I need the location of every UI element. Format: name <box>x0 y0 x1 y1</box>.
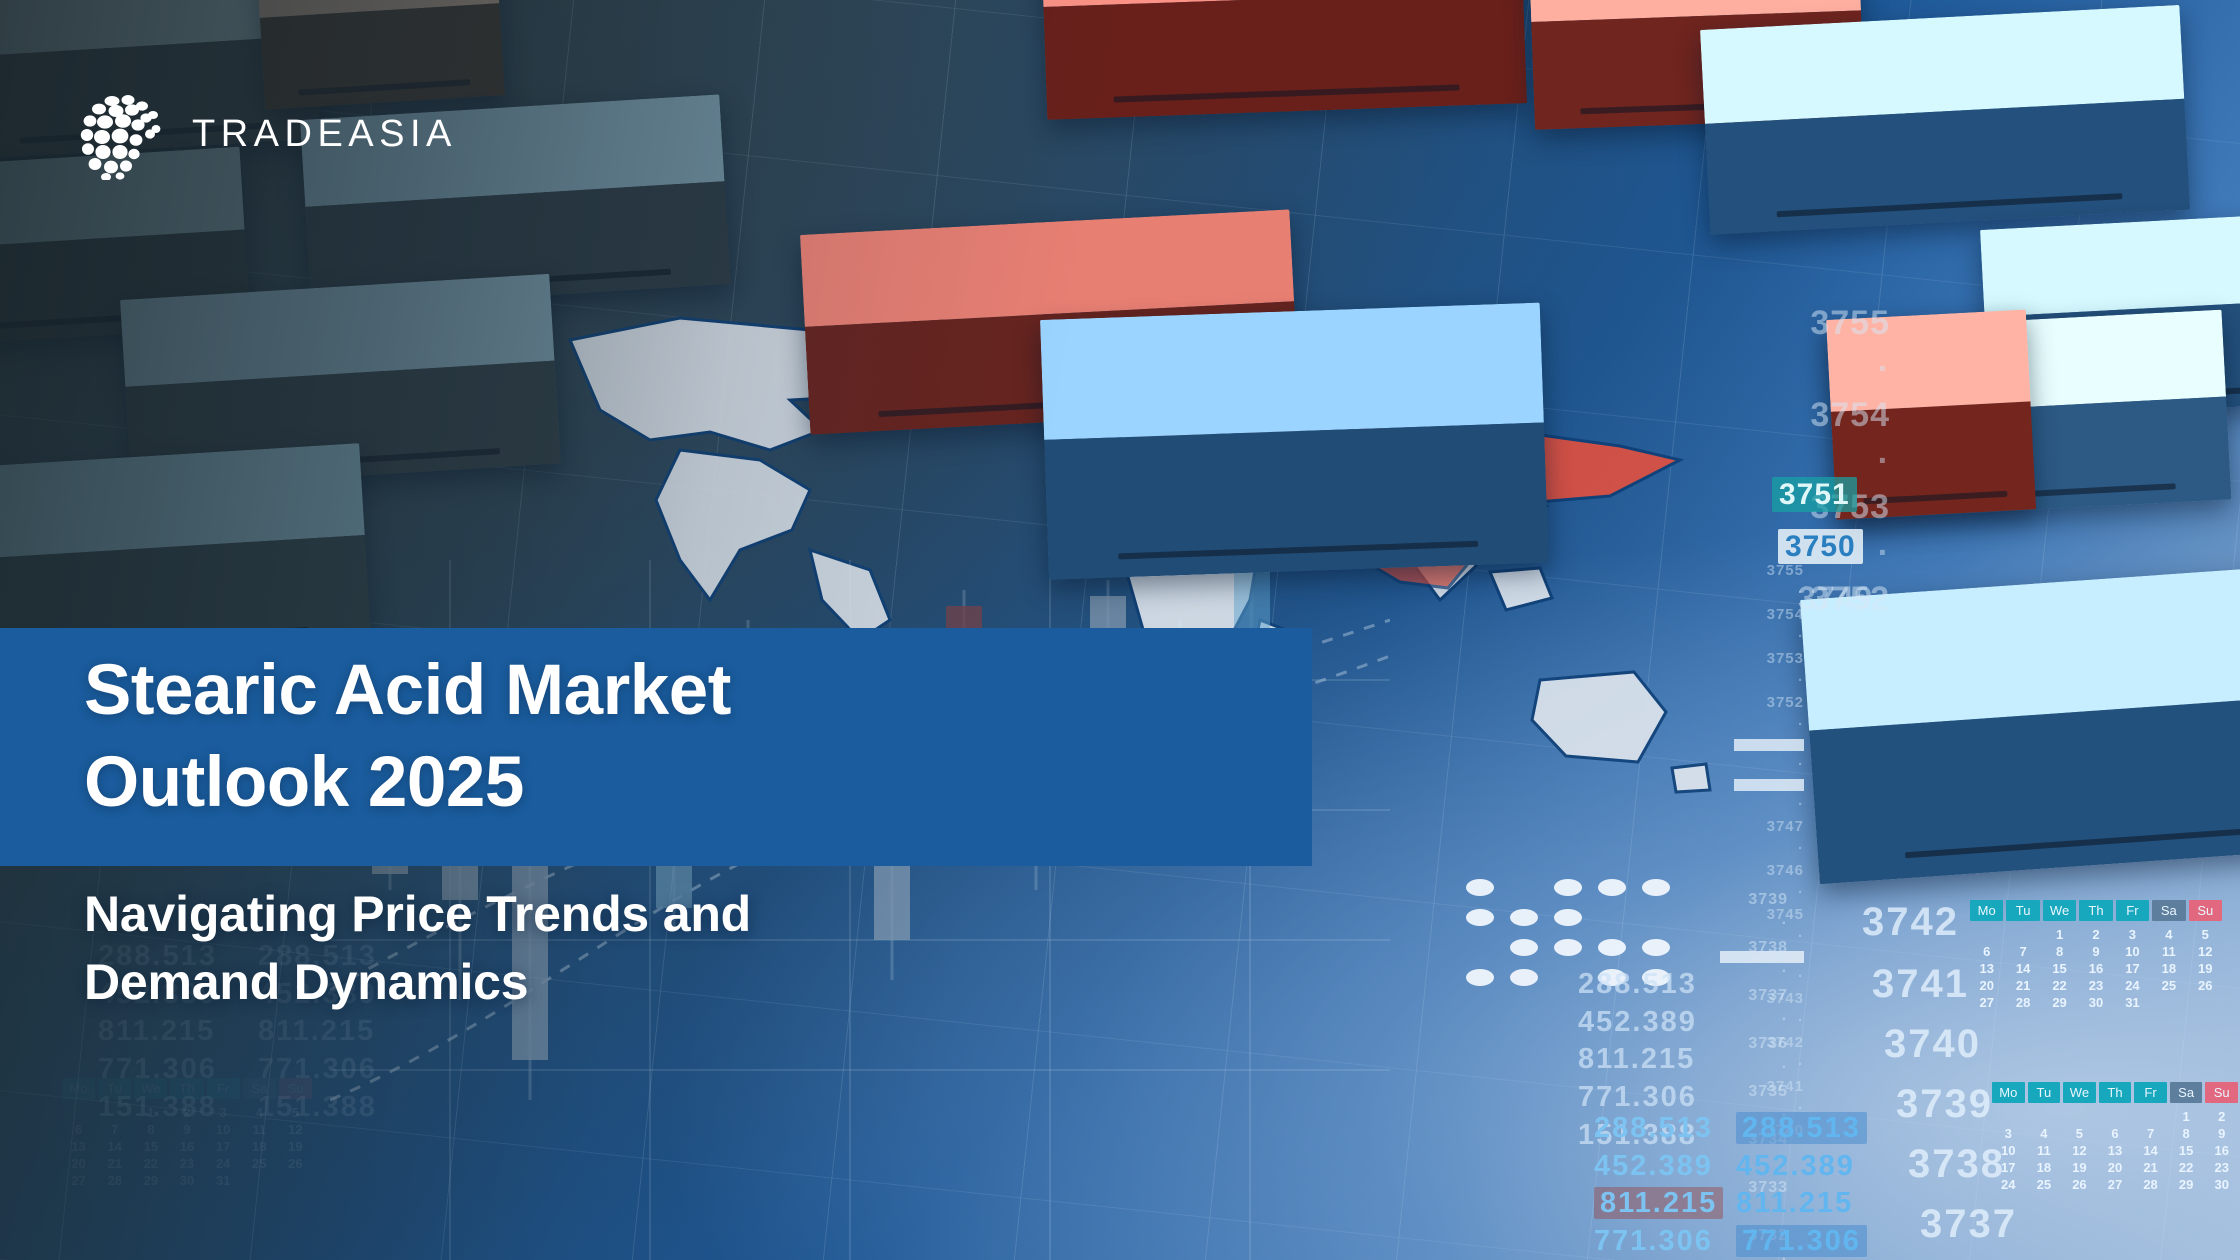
calendar-day: 12 <box>279 1121 312 1138</box>
calendar-day[interactable]: 22 <box>2170 1159 2203 1176</box>
calendar-day <box>98 1104 131 1121</box>
calendar-weekday: Sa <box>243 1078 276 1099</box>
price-value-large: 3742 <box>1862 900 1959 945</box>
calendar-day: 14 <box>98 1138 131 1155</box>
calendar-day[interactable]: 26 <box>2189 977 2222 994</box>
calendar-day[interactable] <box>2152 994 2185 1011</box>
calendar-weekday: Tu <box>2006 900 2039 921</box>
calendar-day[interactable]: 30 <box>2079 994 2112 1011</box>
price-value-large: 3739 <box>1896 1082 1993 1127</box>
data-value-highlight: 288.513 <box>1736 1112 1867 1144</box>
calendar-day: 9 <box>170 1121 203 1138</box>
calendar-day: 13 <box>62 1138 95 1155</box>
calendar-week-row: 17181920212223 <box>1992 1159 2238 1176</box>
calendar-week-row: 6789101112 <box>62 1121 312 1138</box>
shipping-container <box>1040 303 1549 580</box>
calendar-day[interactable]: 30 <box>2205 1176 2238 1193</box>
calendar-day[interactable]: 8 <box>2170 1125 2203 1142</box>
calendar-weekday: Tu <box>2028 1082 2061 1103</box>
calendar-day[interactable] <box>2189 994 2222 1011</box>
subtitle-line-1: Navigating Price Trends and <box>84 880 1284 948</box>
calendar-week-row: 13141516171819 <box>62 1138 312 1155</box>
calendar-weekday: Fr <box>2134 1082 2167 1103</box>
calendar-day: 2 <box>170 1104 203 1121</box>
calendar-weekday: We <box>2063 1082 2096 1103</box>
calendar-day: 26 <box>279 1155 312 1172</box>
calendar-day: 1 <box>134 1104 167 1121</box>
calendar-day <box>279 1172 312 1189</box>
calendar-day: 30 <box>170 1172 203 1189</box>
calendar-day: 23 <box>170 1155 203 1172</box>
calendar-day[interactable] <box>1992 1108 2025 1125</box>
calendar-day[interactable]: 24 <box>1992 1176 2025 1193</box>
calendar-day[interactable]: 29 <box>2170 1176 2203 1193</box>
calendar-widget-1[interactable]: Mo Tu We Th Fr Sa Su 12345 6789101112 13… <box>1970 900 2222 1011</box>
calendar-day[interactable]: 27 <box>2099 1176 2132 1193</box>
calendar-day[interactable]: 7 <box>2006 943 2039 960</box>
calendar-day[interactable]: 15 <box>2170 1142 2203 1159</box>
calendar-weekday: Sa <box>2152 900 2185 921</box>
calendar-day[interactable]: 11 <box>2028 1142 2061 1159</box>
calendar-day[interactable]: 13 <box>2099 1142 2132 1159</box>
calendar-weekday: We <box>134 1078 167 1099</box>
calendar-day: 18 <box>243 1138 276 1155</box>
hero-banner-image: Q3 Q4 Q1 Q2 Q3 3755· 3754· 3753· 3 <box>0 0 2240 1260</box>
data-values-column-a: 288.513 452.389 811.215 771.306 151.388 <box>1594 1110 1723 1260</box>
price-value-large: 3737 <box>1920 1202 2017 1247</box>
title-line-1: Stearic Acid Market <box>84 645 1264 737</box>
calendar-day: 17 <box>207 1138 240 1155</box>
price-value-large: 3738 <box>1908 1142 2005 1187</box>
calendar-day: 22 <box>134 1155 167 1172</box>
calendar-day[interactable]: 9 <box>2205 1125 2238 1142</box>
calendar-day[interactable]: 31 <box>2116 994 2149 1011</box>
calendar-widget-2[interactable]: Mo Tu We Th Fr Sa Su 12 3456789 10111213… <box>1992 1082 2238 1193</box>
calendar-day[interactable]: 20 <box>2099 1159 2132 1176</box>
calendar-day: 20 <box>62 1155 95 1172</box>
calendar-day[interactable]: 23 <box>2079 977 2112 994</box>
calendar-day[interactable]: 25 <box>2152 977 2185 994</box>
calendar-day: 6 <box>62 1121 95 1138</box>
calendar-weekday: Th <box>170 1078 203 1099</box>
calendar-day[interactable]: 6 <box>1970 943 2003 960</box>
calendar-weekday-header: Mo Tu We Th Fr Sa Su <box>62 1078 312 1099</box>
calendar-week-row: 2728293031 <box>62 1172 312 1189</box>
calendar-day[interactable]: 2 <box>2205 1108 2238 1125</box>
calendar-day[interactable]: 29 <box>2043 994 2076 1011</box>
price-ladder-highlight-teal: 3751 <box>1772 478 1857 512</box>
calendar-weekday: Fr <box>2116 900 2149 921</box>
data-value-highlight: 811.215 <box>1594 1187 1723 1219</box>
calendar-week-row: 20212223242526 <box>62 1155 312 1172</box>
calendar-day[interactable]: 4 <box>2152 926 2185 943</box>
calendar-weekday-header: Mo Tu We Th Fr Sa Su <box>1992 1082 2238 1103</box>
calendar-day[interactable]: 1 <box>2170 1108 2203 1125</box>
calendar-day[interactable]: 10 <box>1992 1142 2025 1159</box>
calendar-day: 29 <box>134 1172 167 1189</box>
dotted-globe-svg <box>78 88 170 180</box>
calendar-day[interactable]: 28 <box>2134 1176 2167 1193</box>
calendar-day[interactable]: 22 <box>2043 977 2076 994</box>
calendar-week-row: 2728293031 <box>1970 994 2222 1011</box>
calendar-weekday: Mo <box>1970 900 2003 921</box>
calendar-day: 19 <box>279 1138 312 1155</box>
calendar-day[interactable] <box>1970 926 2003 943</box>
calendar-day[interactable]: 8 <box>2043 943 2076 960</box>
calendar-week-row: 12 <box>1992 1108 2238 1125</box>
calendar-day[interactable]: 19 <box>2063 1159 2096 1176</box>
calendar-week-row: 10111213141516 <box>1992 1142 2238 1159</box>
calendar-day: 4 <box>243 1104 276 1121</box>
calendar-day[interactable]: 9 <box>2079 943 2112 960</box>
page-subtitle: Navigating Price Trends and Demand Dynam… <box>84 880 1284 1016</box>
shipping-container <box>1040 0 1527 120</box>
calendar-weekday: We <box>2043 900 2076 921</box>
calendar-day[interactable]: 18 <box>2152 960 2185 977</box>
calendar-day[interactable]: 7 <box>2134 1125 2167 1142</box>
calendar-day: 21 <box>98 1155 131 1172</box>
calendar-day[interactable] <box>2006 926 2039 943</box>
calendar-day[interactable]: 21 <box>2134 1159 2167 1176</box>
calendar-day: 8 <box>134 1121 167 1138</box>
calendar-day[interactable]: 1 <box>2043 926 2076 943</box>
price-value-large: 3740 <box>1884 1022 1981 1067</box>
calendar-day[interactable]: 5 <box>2063 1125 2096 1142</box>
calendar-day[interactable] <box>2099 1108 2132 1125</box>
calendar-day: 24 <box>207 1155 240 1172</box>
calendar-day: 16 <box>170 1138 203 1155</box>
calendar-day[interactable]: 19 <box>2189 960 2222 977</box>
calendar-day: 15 <box>134 1138 167 1155</box>
calendar-week-row: 24252627282930 <box>1992 1176 2238 1193</box>
calendar-weekday: Su <box>2205 1082 2238 1103</box>
calendar-day[interactable]: 10 <box>2116 943 2149 960</box>
calendar-day[interactable]: 15 <box>2043 960 2076 977</box>
calendar-day[interactable]: 24 <box>2116 977 2149 994</box>
calendar-day[interactable]: 5 <box>2189 926 2222 943</box>
calendar-weekday: Th <box>2099 1082 2132 1103</box>
shipping-container <box>1700 5 2190 235</box>
calendar-week-row: 13141516171819 <box>1970 960 2222 977</box>
price-ladder-value: 3749 <box>1798 580 1873 617</box>
calendar-day[interactable]: 17 <box>1992 1159 2025 1176</box>
calendar-week-row: 12345 <box>1970 926 2222 943</box>
calendar-day[interactable] <box>2028 1108 2061 1125</box>
calendar-weekday: Mo <box>62 1078 95 1099</box>
calendar-day: 31 <box>207 1172 240 1189</box>
dotted-globe-icon <box>78 88 170 180</box>
calendar-weekday: Su <box>279 1078 312 1099</box>
calendar-day: 28 <box>98 1172 131 1189</box>
calendar-day[interactable]: 3 <box>2116 926 2149 943</box>
calendar-day[interactable]: 23 <box>2205 1159 2238 1176</box>
calendar-weekday-header: Mo Tu We Th Fr Sa Su <box>1970 900 2222 921</box>
calendar-weekday: Su <box>2189 900 2222 921</box>
calendar-week-row: 20212223242526 <box>1970 977 2222 994</box>
calendar-day <box>243 1172 276 1189</box>
calendar-weekday: Sa <box>2170 1082 2203 1103</box>
calendar-day[interactable]: 18 <box>2028 1159 2061 1176</box>
calendar-day[interactable]: 12 <box>2189 943 2222 960</box>
price-ladder-highlight-white: 3750 <box>1778 530 1863 564</box>
calendar-day[interactable]: 4 <box>2028 1125 2061 1142</box>
calendar-day[interactable]: 13 <box>1970 960 2003 977</box>
calendar-week-row: 6789101112 <box>1970 943 2222 960</box>
calendar-week-row: 3456789 <box>1992 1125 2238 1142</box>
calendar-week-row: 12345 <box>62 1104 312 1121</box>
page-title: Stearic Acid Market Outlook 2025 <box>84 645 1264 829</box>
calendar-day[interactable]: 21 <box>2006 977 2039 994</box>
calendar-day <box>62 1104 95 1121</box>
calendar-day[interactable]: 25 <box>2028 1176 2061 1193</box>
title-line-2: Outlook 2025 <box>84 737 1264 829</box>
subtitle-line-2: Demand Dynamics <box>84 948 1284 1016</box>
calendar-day[interactable]: 16 <box>2205 1142 2238 1159</box>
calendar-day[interactable]: 2 <box>2079 926 2112 943</box>
calendar-widget-faint: Mo Tu We Th Fr Sa Su 12345 6789101112 13… <box>62 1078 312 1189</box>
calendar-day[interactable]: 6 <box>2099 1125 2132 1142</box>
calendar-day[interactable]: 20 <box>1970 977 2003 994</box>
brand-wordmark: TRADEASIA <box>192 113 457 156</box>
calendar-day[interactable]: 14 <box>2006 960 2039 977</box>
calendar-day[interactable]: 28 <box>2006 994 2039 1011</box>
calendar-day[interactable] <box>2063 1108 2096 1125</box>
calendar-day[interactable]: 3 <box>1992 1125 2025 1142</box>
calendar-day: 5 <box>279 1104 312 1121</box>
calendar-day: 7 <box>98 1121 131 1138</box>
calendar-day: 10 <box>207 1121 240 1138</box>
calendar-day[interactable]: 11 <box>2152 943 2185 960</box>
price-value-large: 3741 <box>1872 962 1969 1007</box>
calendar-weekday: Mo <box>1992 1082 2025 1103</box>
data-value-highlight: 771.306 <box>1736 1225 1867 1257</box>
calendar-day: 3 <box>207 1104 240 1121</box>
calendar-day[interactable]: 27 <box>1970 994 2003 1011</box>
calendar-weekday: Fr <box>207 1078 240 1099</box>
calendar-day: 11 <box>243 1121 276 1138</box>
calendar-day: 27 <box>62 1172 95 1189</box>
calendar-day[interactable]: 17 <box>2116 960 2149 977</box>
calendar-day[interactable] <box>2134 1108 2167 1125</box>
calendar-day[interactable]: 16 <box>2079 960 2112 977</box>
calendar-day[interactable]: 12 <box>2063 1142 2096 1159</box>
brand-logo[interactable]: TRADEASIA <box>78 88 457 180</box>
calendar-weekday: Th <box>2079 900 2112 921</box>
data-values-column-b: 288.513 452.389 811.215 771.306 151.388 <box>1736 1110 1867 1260</box>
calendar-day[interactable]: 14 <box>2134 1142 2167 1159</box>
calendar-day[interactable]: 26 <box>2063 1176 2096 1193</box>
calendar-weekday: Tu <box>98 1078 131 1099</box>
calendar-day: 25 <box>243 1155 276 1172</box>
